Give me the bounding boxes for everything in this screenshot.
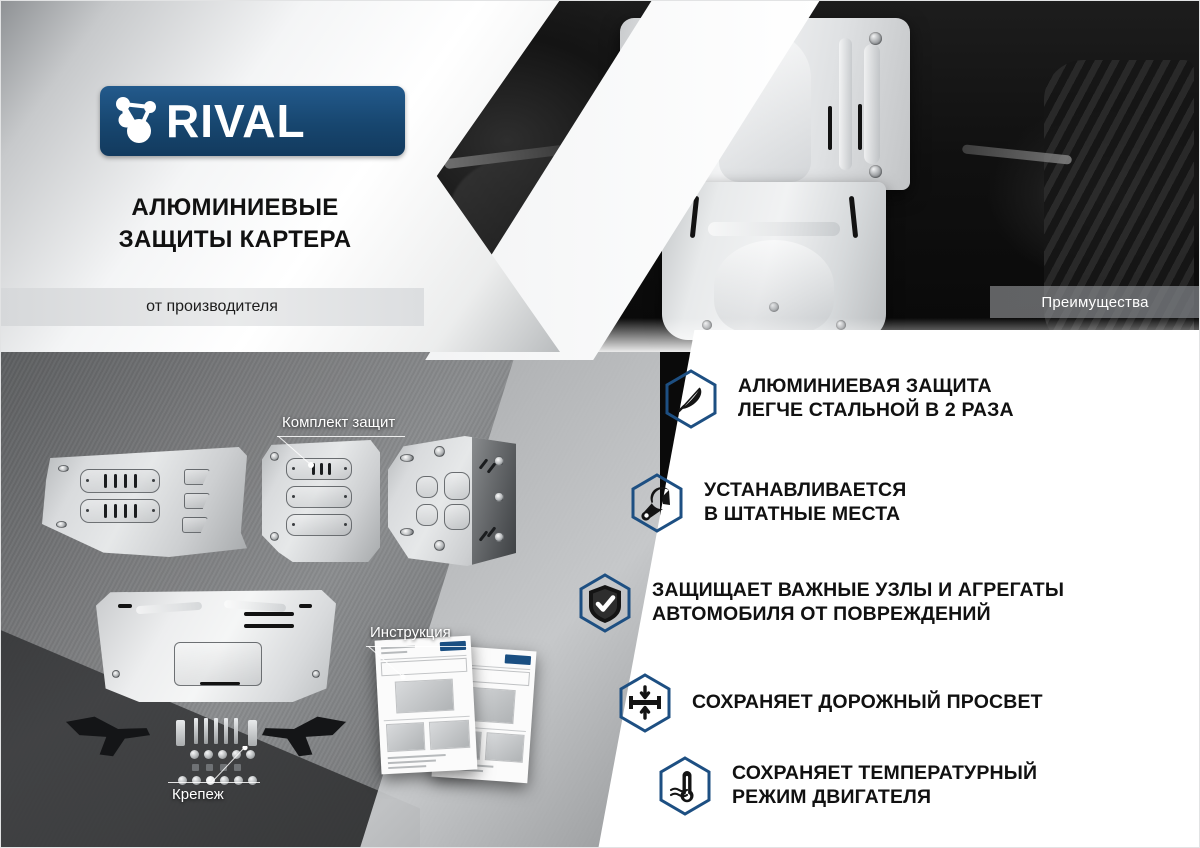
feather-icon [662, 368, 720, 430]
feature-item-lightweight: АЛЮМИНИЕВАЯ ЗАЩИТА ЛЕГЧЕ СТАЛЬНОЙ В 2 РА… [662, 368, 1014, 430]
feature-text: СОХРАНЯЕТ ТЕМПЕРАТУРНЫЙ РЕЖИМ ДВИГАТЕЛЯ [732, 762, 1037, 810]
feature-text: ЗАЩИЩАЕТ ВАЖНЫЕ УЗЛЫ И АГРЕГАТЫ АВТОМОБИ… [652, 579, 1064, 627]
thermometer-icon [656, 755, 714, 817]
skid-plate-left [42, 447, 247, 557]
rival-logo: RIVAL [100, 86, 405, 156]
feature-item-fitment: УСТАНАВЛИВАЕТСЯ В ШТАТНЫЕ МЕСТА [628, 472, 906, 534]
page-title: АЛЮМИНИЕВЫЕ ЗАЩИТЫ КАРТЕРА [0, 192, 470, 256]
feature-text: СОХРАНЯЕТ ДОРОЖНЫЙ ПРОСВЕТ [692, 691, 1043, 715]
installed-skid-plate-lower [662, 182, 886, 340]
headline-line-1: АЛЮМИНИЕВЫЕ [0, 192, 470, 224]
skid-plate-large-bottom [96, 590, 336, 702]
advantages-ribbon-label: Преимущества [1041, 294, 1148, 311]
subtitle-text: от производителя [146, 298, 278, 316]
callout-instruction-leader [366, 646, 416, 680]
callout-hardware-label: Крепеж [172, 786, 224, 803]
feature-item-protection: ЗАЩИЩАЕТ ВАЖНЫЕ УЗЛЫ И АГРЕГАТЫ АВТОМОБИ… [576, 572, 1064, 634]
callout-instruction-label: Инструкция [370, 624, 451, 641]
advantages-ribbon: Преимущества [990, 286, 1200, 318]
shield-check-icon [576, 572, 634, 634]
feature-text: УСТАНАВЛИВАЕТСЯ В ШТАТНЫЕ МЕСТА [704, 479, 906, 527]
rival-wordmark: RIVAL [166, 98, 306, 144]
callout-hardware-leader [210, 746, 256, 784]
promo-poster: Преимущества [0, 0, 1200, 848]
callout-kit-label: Комплект защит [282, 414, 395, 431]
feature-item-clearance: СОХРАНЯЕТ ДОРОЖНЫЙ ПРОСВЕТ [616, 672, 1043, 734]
feature-item-temperature: СОХРАНЯЕТ ТЕМПЕРАТУРНЫЙ РЕЖИМ ДВИГАТЕЛЯ [656, 755, 1037, 817]
skid-plate-right [388, 436, 516, 566]
wrench-icon [628, 472, 686, 534]
callout-kit-leader [276, 436, 322, 468]
headline-line-2: ЗАЩИТЫ КАРТЕРА [0, 224, 470, 256]
feature-text: АЛЮМИНИЕВАЯ ЗАЩИТА ЛЕГЧЕ СТАЛЬНОЙ В 2 РА… [738, 375, 1014, 423]
ground-clearance-icon [616, 672, 674, 734]
subtitle-bar: от производителя [0, 288, 424, 326]
features-list: АЛЮМИНИЕВАЯ ЗАЩИТА ЛЕГЧЕ СТАЛЬНОЙ В 2 РА… [560, 330, 1200, 848]
molecule-icon [106, 90, 168, 152]
